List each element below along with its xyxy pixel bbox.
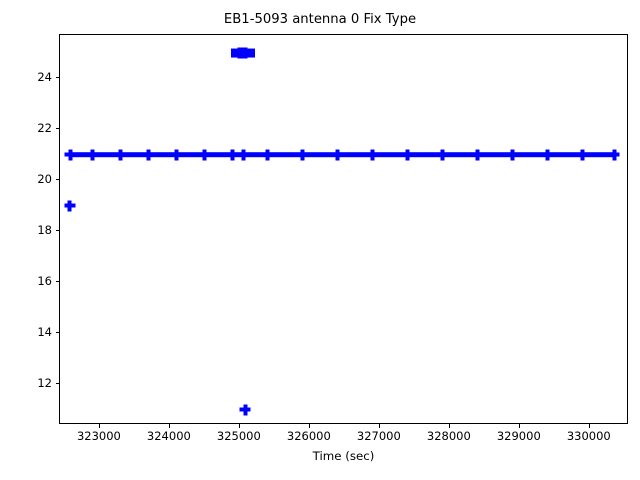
plus-icon-vertical: [243, 47, 247, 58]
y-tick-label: 24: [37, 70, 52, 84]
y-tick-mark: [56, 281, 60, 282]
plus-icon-vertical: [147, 149, 151, 160]
plus-icon-vertical: [581, 149, 585, 160]
x-tick-mark: [379, 424, 380, 428]
data-point-marker: [199, 149, 210, 160]
y-tick-mark: [56, 332, 60, 333]
x-tick-label: 328000: [427, 429, 471, 443]
data-point-marker: [171, 149, 182, 160]
x-tick-mark: [309, 424, 310, 428]
x-tick-label: 325000: [217, 429, 261, 443]
x-tick-label: 323000: [77, 429, 121, 443]
data-series-layer: [60, 35, 627, 423]
y-tick-mark: [56, 230, 60, 231]
plus-icon-vertical: [231, 149, 235, 160]
data-point-marker: [609, 149, 620, 160]
y-tick-label: 18: [37, 223, 52, 237]
data-point-marker: [297, 149, 308, 160]
data-point-marker: [240, 47, 251, 58]
chart-title: EB1-5093 antenna 0 Fix Type: [0, 12, 640, 27]
plus-icon-vertical: [243, 404, 247, 415]
plus-icon-vertical: [301, 149, 305, 160]
x-tick-mark: [449, 424, 450, 428]
data-point-marker: [402, 149, 413, 160]
x-tick-mark: [169, 424, 170, 428]
plus-icon-vertical: [68, 149, 72, 160]
plus-icon-vertical: [266, 149, 270, 160]
y-tick-label: 20: [37, 172, 52, 186]
data-point-marker: [87, 149, 98, 160]
x-tick-label: 324000: [147, 429, 191, 443]
plus-icon-vertical: [203, 149, 207, 160]
data-point-marker: [227, 149, 238, 160]
data-point-marker: [115, 149, 126, 160]
plus-icon-vertical: [119, 149, 123, 160]
plus-icon-vertical: [336, 149, 340, 160]
x-tick-label: 330000: [567, 429, 611, 443]
x-axis-label: Time (sec): [59, 449, 628, 463]
data-point-marker: [542, 149, 553, 160]
y-tick-mark: [56, 77, 60, 78]
x-tick-label: 329000: [497, 429, 541, 443]
data-point-marker: [238, 149, 249, 160]
x-tick-mark: [239, 424, 240, 428]
data-point-marker: [143, 149, 154, 160]
plus-icon-vertical: [612, 149, 616, 160]
y-tick-label: 14: [37, 325, 52, 339]
y-tick-label: 22: [37, 121, 52, 135]
plot-area: [59, 34, 628, 424]
x-tick-label: 327000: [357, 429, 401, 443]
plus-icon-vertical: [406, 149, 410, 160]
data-point-marker: [64, 200, 75, 211]
data-point-marker: [262, 149, 273, 160]
y-tick-mark: [56, 179, 60, 180]
x-tick-mark: [589, 424, 590, 428]
x-tick-mark: [99, 424, 100, 428]
data-point-marker: [367, 149, 378, 160]
data-point-marker: [332, 149, 343, 160]
x-tick-mark: [519, 424, 520, 428]
data-point-marker: [65, 149, 76, 160]
plus-icon-vertical: [68, 200, 72, 211]
x-tick-label: 326000: [287, 429, 331, 443]
data-point-marker: [577, 149, 588, 160]
plus-icon-vertical: [371, 149, 375, 160]
plus-icon-vertical: [91, 149, 95, 160]
y-tick-label: 12: [37, 376, 52, 390]
data-point-marker: [507, 149, 518, 160]
chart-figure: EB1-5093 antenna 0 Fix Type 323000324000…: [0, 0, 640, 480]
plus-icon-vertical: [441, 149, 445, 160]
y-tick-label: 16: [37, 274, 52, 288]
y-tick-mark: [56, 383, 60, 384]
plus-icon-vertical: [546, 149, 550, 160]
y-tick-mark: [56, 128, 60, 129]
plus-icon-vertical: [511, 149, 515, 160]
data-point-marker: [240, 404, 251, 415]
data-point-marker: [472, 149, 483, 160]
plus-icon-vertical: [241, 149, 245, 160]
data-point-marker: [437, 149, 448, 160]
plus-icon-vertical: [175, 149, 179, 160]
plus-icon-vertical: [476, 149, 480, 160]
